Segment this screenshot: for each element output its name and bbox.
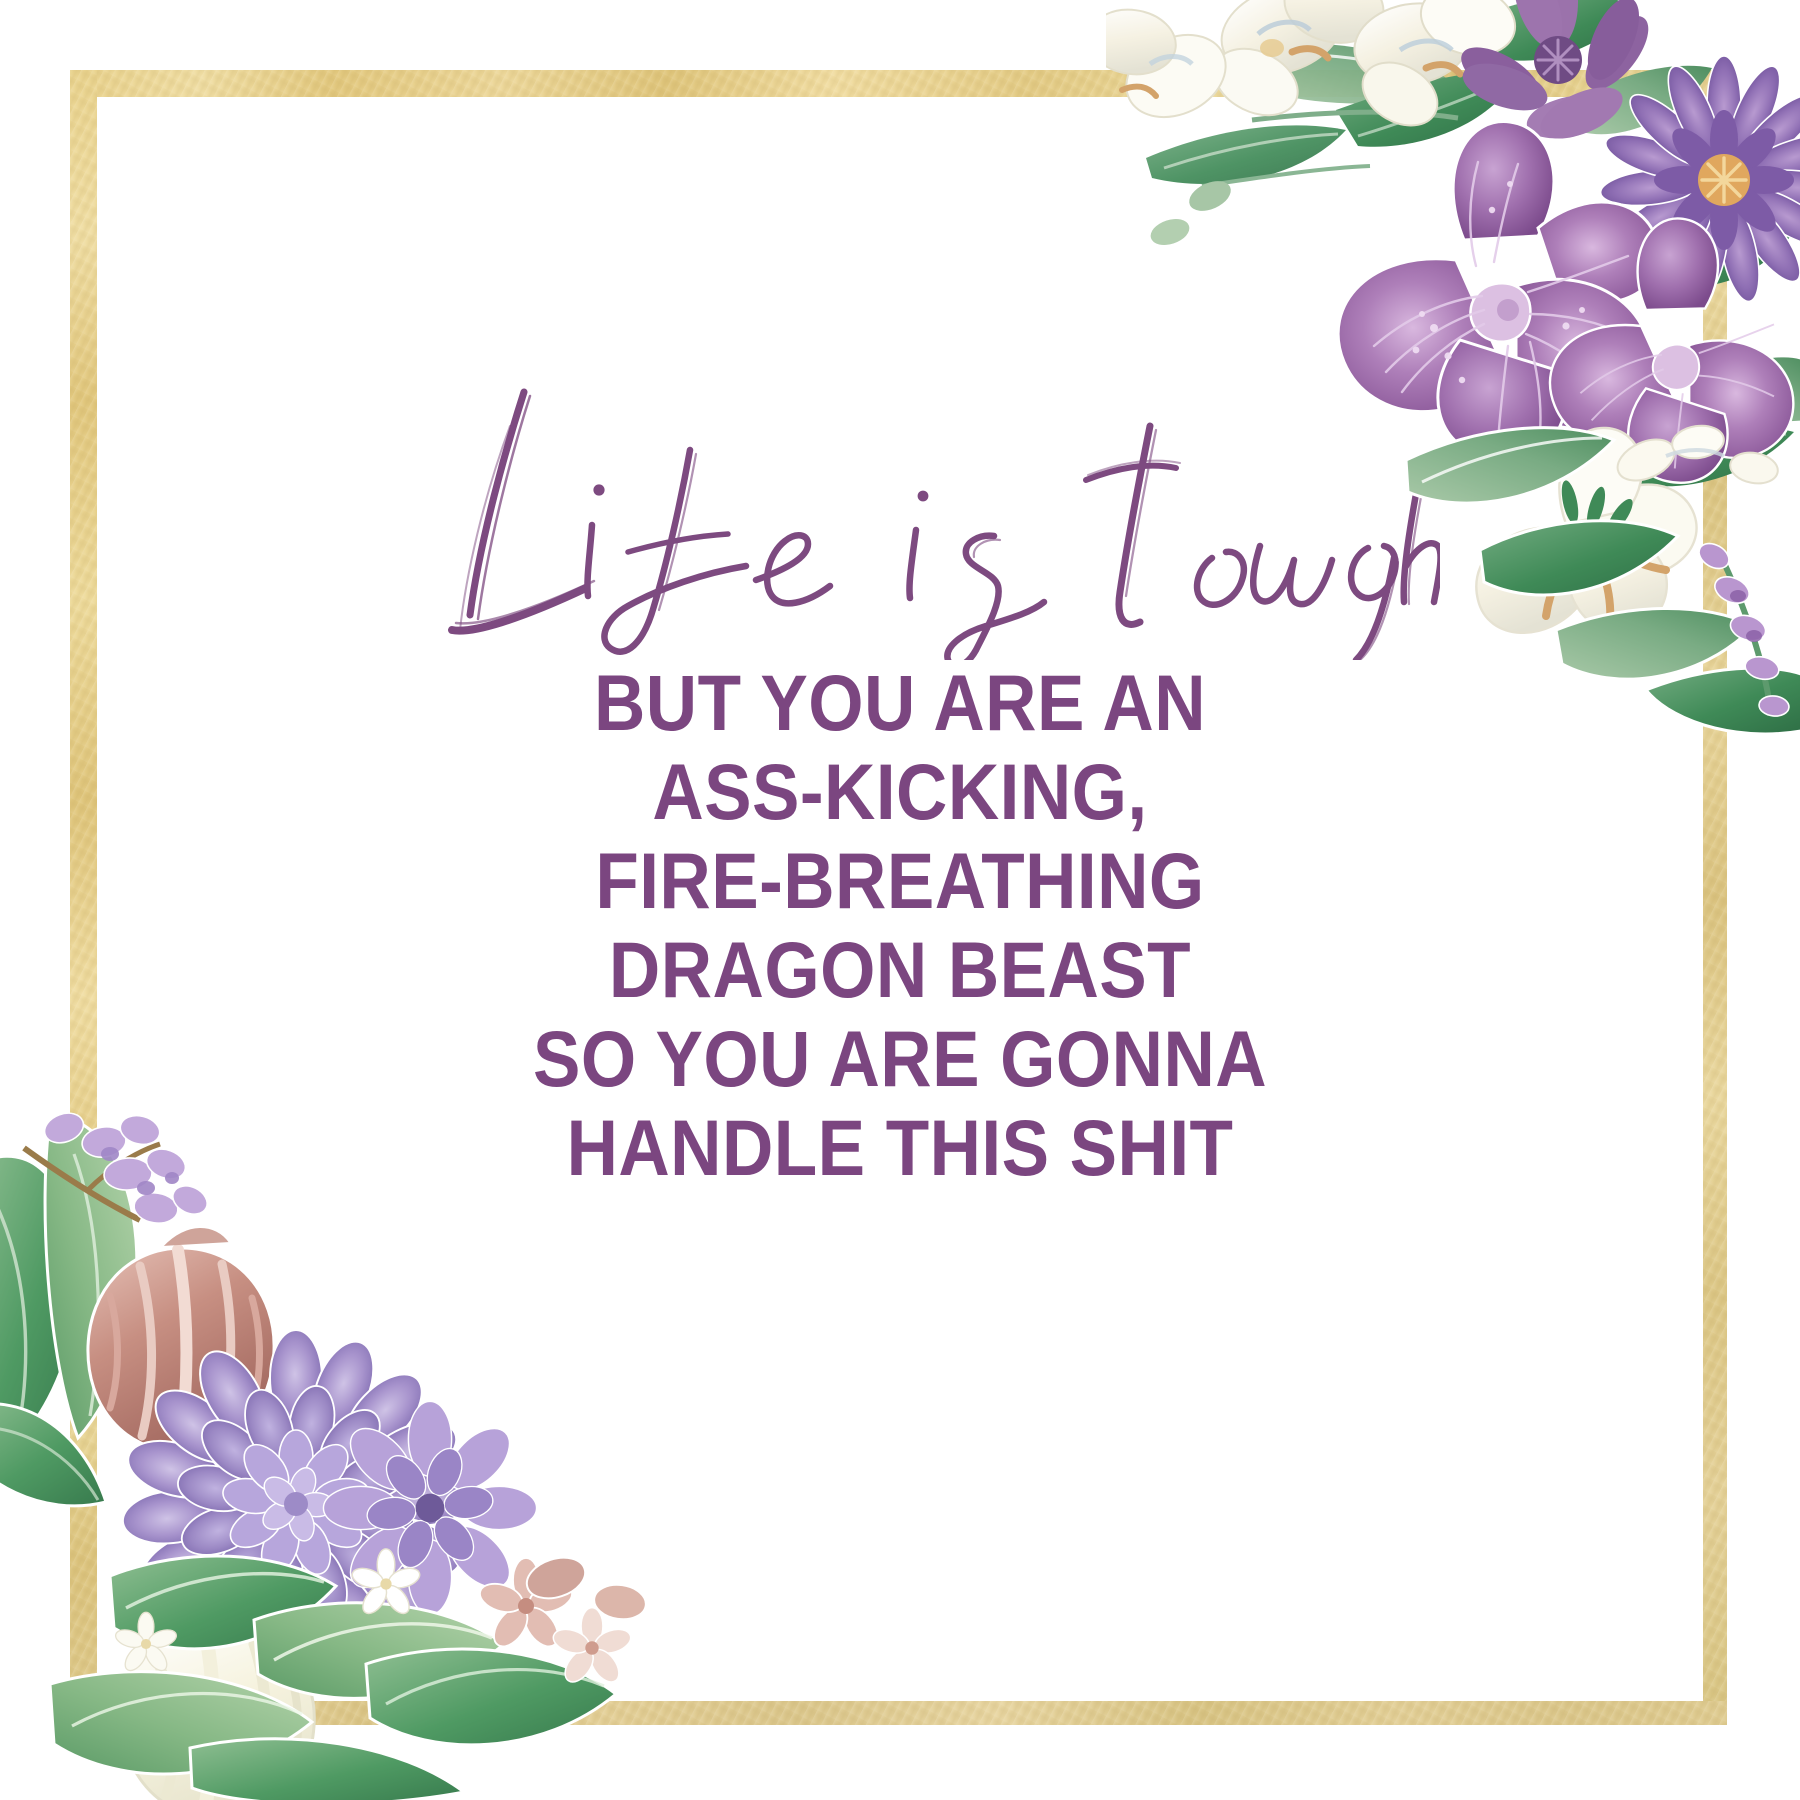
gold-texture-overlay (70, 1701, 1727, 1725)
purple-orchid-secondary (1550, 218, 1793, 482)
quote-line-3: FIRE-BREATHING (90, 836, 1710, 925)
quote-line-2: ASS-KICKING, (90, 747, 1710, 836)
headline-script (0, 330, 1800, 660)
quote-line-5: SO YOU ARE GONNA (90, 1014, 1710, 1103)
pink-floret-cluster (476, 1551, 648, 1687)
quote-block: BUT YOU ARE AN ASS-KICKING, FIRE-BREATHI… (90, 658, 1710, 1192)
purple-orchid-hero (1338, 122, 1659, 460)
quote-line-4: DRAGON BEAST (90, 925, 1710, 1014)
white-bud-cluster (1611, 423, 1780, 489)
lavender-bloom-secondary (323, 1401, 536, 1614)
white-lily-lower (1476, 428, 1696, 633)
quote-line-6: HANDLE THIS SHIT (90, 1103, 1710, 1192)
quote-line-1: BUT YOU ARE AN (90, 658, 1710, 747)
floral-corner-bottom-left (0, 1108, 680, 1800)
quote-poster: BUT YOU ARE AN ASS-KICKING, FIRE-BREATHI… (0, 0, 1800, 1800)
protea-bud (88, 1227, 274, 1452)
frame-bottom-bar (70, 1701, 1727, 1725)
white-blossom-cluster (113, 1549, 422, 1674)
gold-texture-overlay (70, 70, 1727, 97)
leaf-group-front (50, 1556, 616, 1800)
floral-corner-top-right (1106, 0, 1800, 750)
purple-chrysanthemum (120, 1330, 471, 1679)
frame-top-bar (70, 70, 1727, 97)
